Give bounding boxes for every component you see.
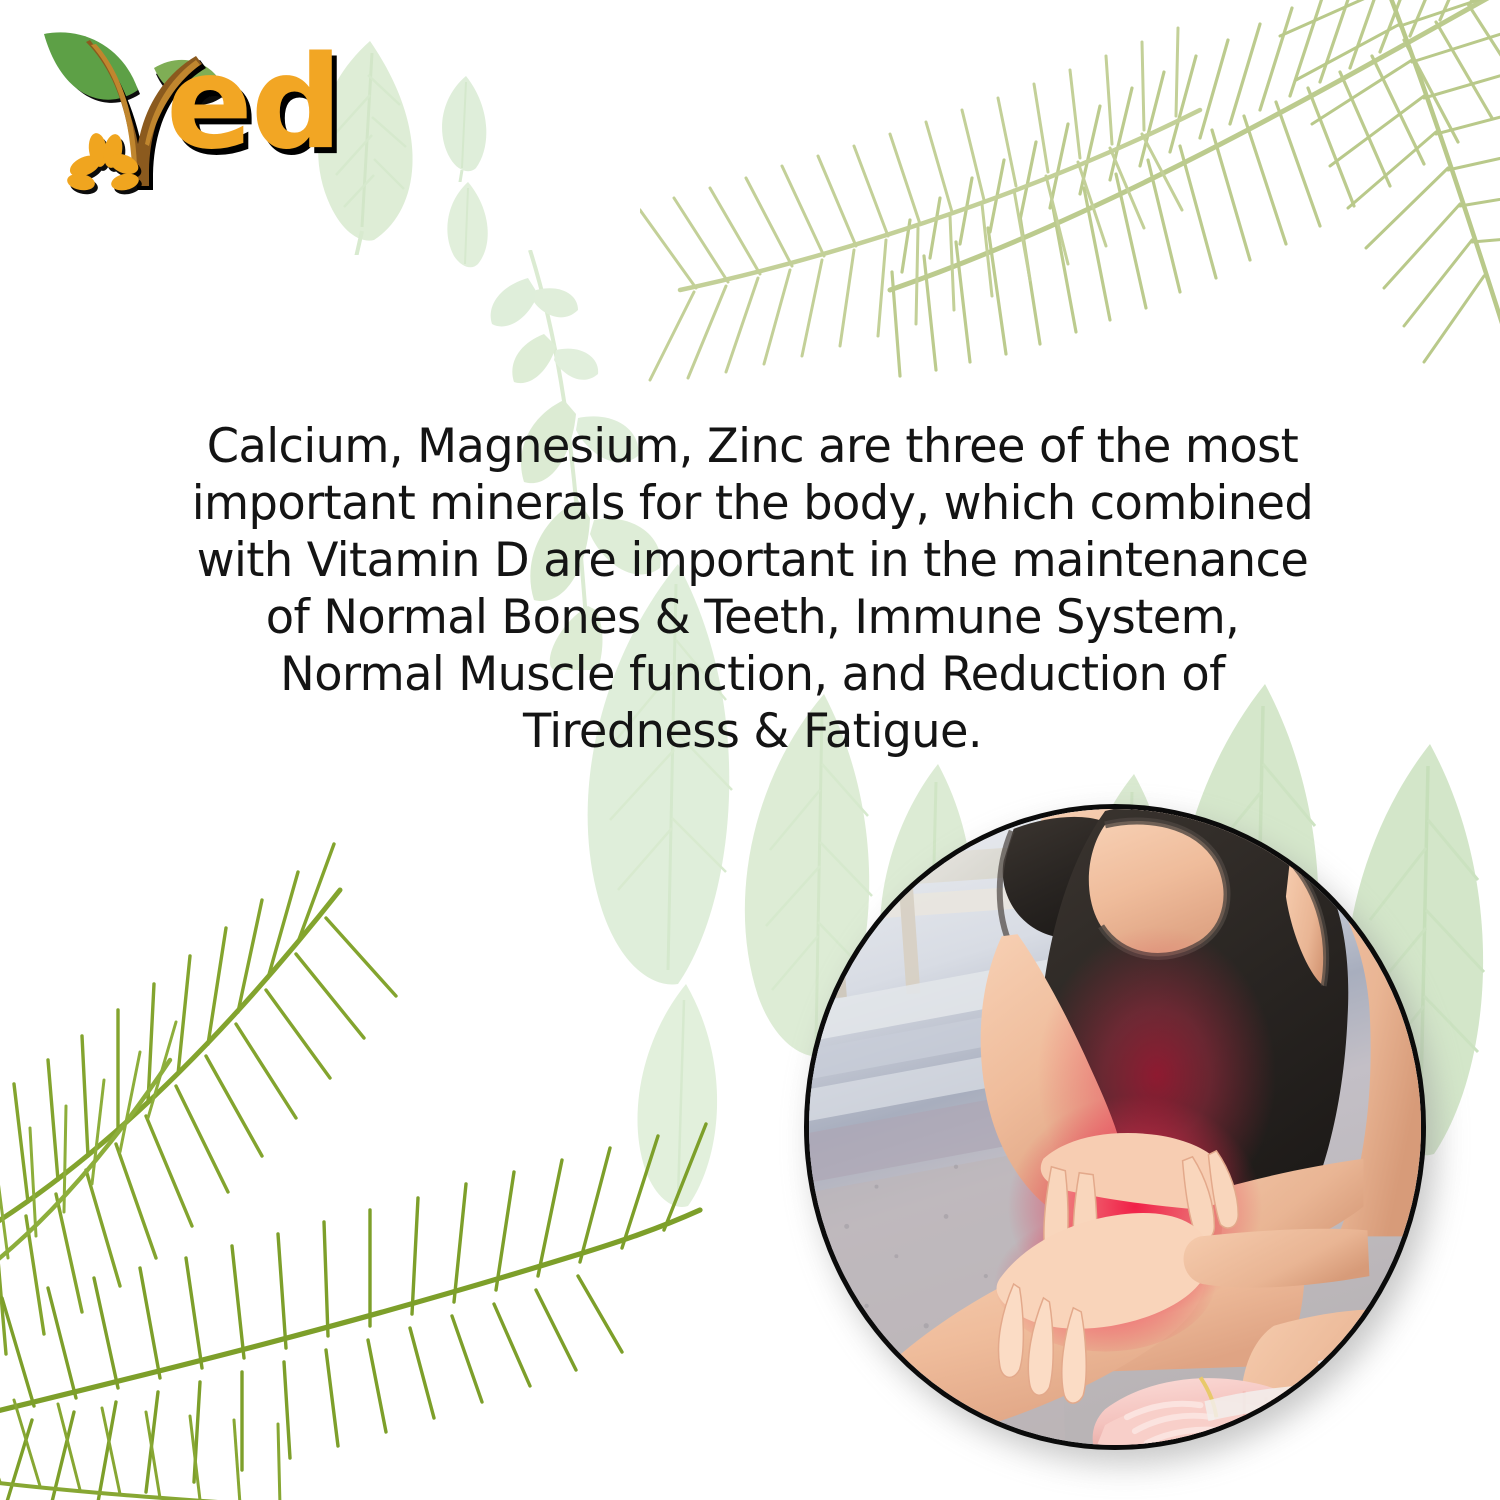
logo-wordmark: ed xyxy=(166,29,340,178)
ved-logo[interactable]: ed xyxy=(28,18,328,208)
poster-canvas: ed Calcium, Magnesium, Zinc are three of… xyxy=(0,0,1500,1500)
knee-pain-photo xyxy=(804,804,1426,1450)
palm-frond-bottom-left xyxy=(0,830,760,1500)
watermark-leaf-icon xyxy=(434,72,494,182)
watermark-leaf-icon xyxy=(440,178,496,274)
knee-pain-photo-wrap xyxy=(804,804,1426,1450)
knee-pain-illustration xyxy=(809,809,1421,1445)
headline-text: Calcium, Magnesium, Zinc are three of th… xyxy=(120,418,1386,760)
